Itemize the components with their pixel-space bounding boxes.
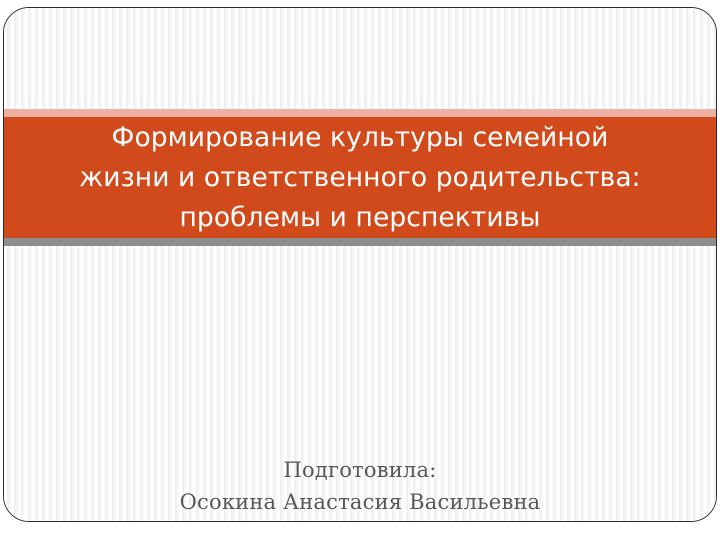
slide-title-line-3: проблемы и перспективы bbox=[180, 198, 541, 238]
slide-title-line-2: жизни и ответственного родительства: bbox=[79, 158, 640, 198]
subtitle-author-label: Подготовила: bbox=[4, 454, 716, 486]
slide-title: Формирование культуры семейной жизни и о… bbox=[4, 117, 716, 238]
title-banner: Формирование культуры семейной жизни и о… bbox=[4, 109, 716, 246]
title-banner-bottom-accent-bar bbox=[4, 238, 716, 246]
slide-background-texture bbox=[4, 8, 716, 521]
subtitle-author-name: Осокина Анастасия Васильевна bbox=[4, 486, 716, 518]
title-banner-top-accent-bar bbox=[4, 109, 716, 117]
slide-subtitle: Подготовила: Осокина Анастасия Васильевн… bbox=[4, 454, 716, 518]
slide-title-line-1: Формирование культуры семейной bbox=[112, 118, 609, 158]
slide-canvas: Формирование культуры семейной жизни и о… bbox=[3, 7, 717, 522]
